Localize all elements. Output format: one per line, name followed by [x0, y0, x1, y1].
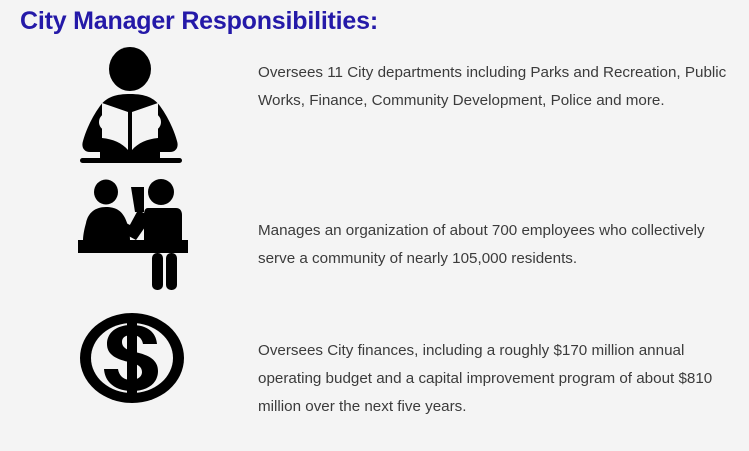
text-cell: Oversees 11 City departments including P… [258, 46, 749, 115]
responsibility-text: Oversees 11 City departments including P… [258, 46, 728, 115]
city-manager-responsibilities-page: City Manager Responsibilities: [0, 0, 749, 451]
person-reading-document-icon [78, 46, 184, 164]
text-cell: Manages an organization of about 700 emp… [258, 176, 749, 273]
list-item: Oversees City finances, including a roug… [0, 311, 749, 431]
dollar-coin-icon [78, 311, 186, 405]
responsibility-text: Oversees City finances, including a roug… [258, 311, 728, 421]
responsibility-text: Manages an organization of about 700 emp… [258, 176, 728, 273]
list-item: Manages an organization of about 700 emp… [0, 176, 749, 311]
responsibilities-list: Oversees 11 City departments including P… [0, 46, 749, 431]
page-title: City Manager Responsibilities: [20, 6, 378, 36]
list-item: Oversees 11 City departments including P… [0, 46, 749, 176]
people-at-service-counter-icon [78, 176, 188, 294]
text-cell: Oversees City finances, including a roug… [258, 311, 749, 421]
